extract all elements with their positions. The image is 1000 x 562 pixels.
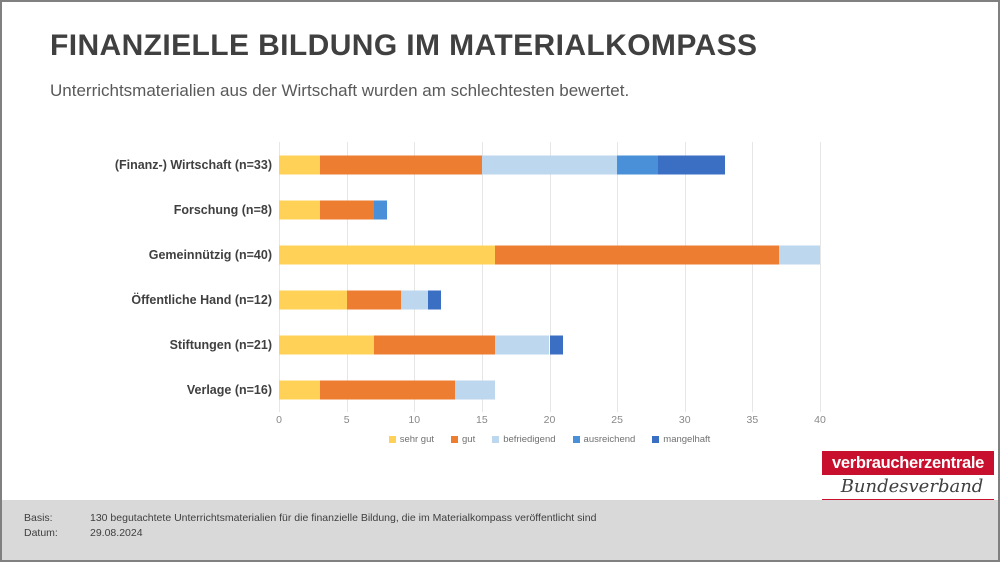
x-axis-tick-label: 15 <box>476 414 488 426</box>
category-label: Forschung (n=8) <box>174 203 272 217</box>
bar-row <box>279 380 820 399</box>
slide: FINANZIELLE BILDUNG IM MATERIALKOMPASS U… <box>0 0 1000 562</box>
category-label: (Finanz-) Wirtschaft (n=33) <box>115 158 272 172</box>
x-axis-tick-label: 25 <box>611 414 623 426</box>
gridline <box>482 142 483 412</box>
bar-segment <box>495 335 549 354</box>
verbraucherzentrale-logo: verbraucherzentrale Bundesverband <box>822 451 994 501</box>
bar-segment <box>658 155 726 174</box>
bar-segment <box>428 290 442 309</box>
bar-segment <box>482 155 617 174</box>
bar-segment <box>617 155 658 174</box>
bar-segment <box>279 155 320 174</box>
bar-segment <box>374 200 388 219</box>
x-axis-tick-label: 0 <box>276 414 282 426</box>
bar-segment <box>401 290 428 309</box>
bar-segment <box>279 380 320 399</box>
footer-basis-value: 130 begutachtete Unterrichtsmaterialien … <box>90 511 596 526</box>
page-subtitle: Unterrichtsmaterialien aus der Wirtschaf… <box>50 81 629 101</box>
footer-datum-label: Datum: <box>24 526 90 541</box>
x-axis-tick-label: 5 <box>344 414 350 426</box>
category-label: Öffentliche Hand (n=12) <box>131 293 272 307</box>
bar-segment <box>320 380 455 399</box>
footer-row-datum: Datum: 29.08.2024 <box>24 526 596 541</box>
bar-segment <box>374 335 496 354</box>
legend-item[interactable]: sehr gut <box>389 434 434 445</box>
bar-segment <box>320 155 482 174</box>
legend-label: befriedigend <box>503 434 555 445</box>
gridline <box>752 142 753 412</box>
gridline <box>685 142 686 412</box>
bar-segment <box>279 200 320 219</box>
gridline <box>414 142 415 412</box>
legend-label: ausreichend <box>584 434 636 445</box>
bar-segment <box>279 245 495 264</box>
gridline <box>820 142 821 412</box>
x-axis-tick-label: 30 <box>679 414 691 426</box>
stacked-bar-chart: (Finanz-) Wirtschaft (n=33)Forschung (n=… <box>42 142 832 427</box>
footer-notes: Basis: 130 begutachtete Unterrichtsmater… <box>24 511 596 541</box>
logo-subtext: Bundesverband <box>830 476 994 501</box>
legend-swatch-icon <box>451 436 458 443</box>
bar-row <box>279 245 820 264</box>
bar-row <box>279 155 820 174</box>
page-title: FINANZIELLE BILDUNG IM MATERIALKOMPASS <box>50 29 757 63</box>
bar-row <box>279 290 820 309</box>
footer-row-basis: Basis: 130 begutachtete Unterrichtsmater… <box>24 511 596 526</box>
x-axis-tick-label: 10 <box>408 414 420 426</box>
bar-segment <box>495 245 779 264</box>
bar-row <box>279 335 820 354</box>
legend-item[interactable]: gut <box>451 434 475 445</box>
legend-item[interactable]: mangelhaft <box>652 434 710 445</box>
bar-segment <box>279 335 374 354</box>
category-label: Gemeinnützig (n=40) <box>149 248 272 262</box>
bar-row <box>279 200 820 219</box>
chart-legend: sehr gutgutbefriedigendausreichendmangel… <box>279 434 820 445</box>
plot-area: 0510152025303540 <box>279 142 820 412</box>
logo-wordmark: verbraucherzentrale <box>822 451 994 475</box>
category-label: Verlage (n=16) <box>187 383 272 397</box>
gridline <box>279 142 280 412</box>
bar-segment <box>455 380 496 399</box>
x-axis-tick-label: 20 <box>544 414 556 426</box>
legend-swatch-icon <box>492 436 499 443</box>
footer-datum-value: 29.08.2024 <box>90 526 143 541</box>
gridline <box>550 142 551 412</box>
bar-segment <box>779 245 820 264</box>
category-label: Stiftungen (n=21) <box>170 338 272 352</box>
legend-swatch-icon <box>389 436 396 443</box>
bar-segment <box>550 335 564 354</box>
category-axis: (Finanz-) Wirtschaft (n=33)Forschung (n=… <box>42 142 272 412</box>
legend-label: gut <box>462 434 475 445</box>
legend-swatch-icon <box>652 436 659 443</box>
bar-segment <box>320 200 374 219</box>
x-axis-tick-label: 35 <box>747 414 759 426</box>
x-axis-tick-label: 40 <box>814 414 826 426</box>
gridline <box>617 142 618 412</box>
legend-label: sehr gut <box>400 434 434 445</box>
bar-segment <box>279 290 347 309</box>
bar-segment <box>347 290 401 309</box>
legend-label: mangelhaft <box>663 434 710 445</box>
gridline <box>347 142 348 412</box>
footer-band: Basis: 130 begutachtete Unterrichtsmater… <box>2 500 998 560</box>
legend-item[interactable]: ausreichend <box>573 434 636 445</box>
footer-basis-label: Basis: <box>24 511 90 526</box>
legend-item[interactable]: befriedigend <box>492 434 555 445</box>
legend-swatch-icon <box>573 436 580 443</box>
